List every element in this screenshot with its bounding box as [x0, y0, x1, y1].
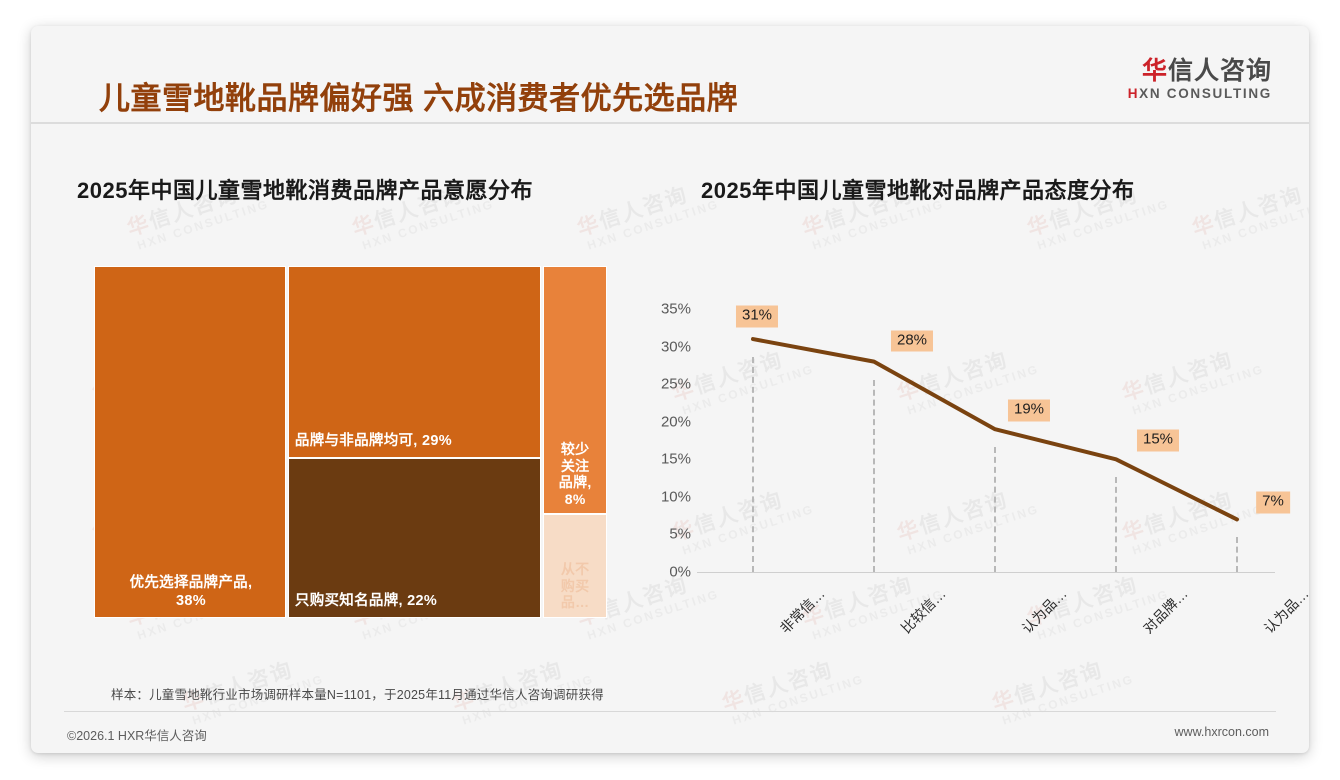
- logo-chinese-text: 华信人咨询: [1128, 58, 1272, 84]
- y-axis: 0%5%10%15%20%25%30%35%: [635, 266, 691, 636]
- watermark: 华信人咨询HXN CONSULTING: [1188, 170, 1309, 254]
- logo-cn-accent-char: 华: [1142, 57, 1168, 85]
- line-chart-plot-area: 31%28%19%15%7%非常信…比较信…认为品…对品牌…认为品…: [697, 266, 1275, 636]
- slide-header: 儿童雪地靴品牌偏好强 六成消费者优先选品牌 华信人咨询 HXN CONSULTI…: [31, 26, 1309, 122]
- treemap-cell[interactable]: 品牌与非品牌均可, 29%: [288, 266, 541, 458]
- treemap-cell[interactable]: 只购买知名品牌, 22%: [288, 458, 541, 618]
- treemap-cell[interactable]: 较少关注品牌,8%: [543, 266, 607, 514]
- brand-logo: 华信人咨询 HXN CONSULTING: [1128, 58, 1272, 101]
- treemap-chart: 优先选择品牌产品,38%品牌与非品牌均可, 29%只购买知名品牌, 22%较少关…: [94, 266, 607, 618]
- logo-english-text: HXN CONSULTING: [1128, 86, 1272, 101]
- logo-cn-rest: 信人咨询: [1168, 57, 1272, 85]
- data-point-label: 31%: [736, 306, 778, 328]
- treemap-cell-label: 只购买知名品牌, 22%: [295, 592, 536, 611]
- header-divider: [31, 122, 1309, 124]
- y-axis-tick-label: 15%: [645, 451, 691, 468]
- treemap-cell-label: 品牌与非品牌均可, 29%: [295, 432, 536, 451]
- treemap-cell-label: 较少关注品牌,8%: [544, 441, 606, 507]
- page-title: 儿童雪地靴品牌偏好强 六成消费者优先选品牌: [99, 73, 738, 118]
- y-axis-tick-label: 30%: [645, 338, 691, 355]
- logo-en-accent-char: H: [1128, 86, 1139, 101]
- watermark: 华信人咨询HXN CONSULTING: [573, 170, 721, 254]
- treemap-cell[interactable]: 从不购买品…: [543, 514, 607, 618]
- logo-en-rest: XN CONSULTING: [1139, 86, 1272, 101]
- line-chart: 0%5%10%15%20%25%30%35% 31%28%19%15%7%非常信…: [635, 266, 1275, 636]
- y-axis-tick-label: 20%: [645, 413, 691, 430]
- treemap-cell-label: 从不购买品…: [544, 561, 606, 611]
- slide-card: 华信人咨询HXN CONSULTING华信人咨询HXN CONSULTING华信…: [31, 26, 1309, 753]
- data-point-label: 15%: [1137, 430, 1179, 452]
- data-point-label: 19%: [1008, 400, 1050, 422]
- left-chart-title: 2025年中国儿童雪地靴消费品牌产品意愿分布: [77, 173, 533, 205]
- footer-divider: [64, 711, 1276, 712]
- line-series-path: [697, 266, 1275, 636]
- website-link[interactable]: www.hxrcon.com: [1175, 725, 1269, 739]
- data-point-label: 28%: [891, 330, 933, 352]
- slide-footer: ©2026.1 HXR华信人咨询 www.hxrcon.com: [31, 717, 1309, 753]
- data-point-label: 7%: [1256, 492, 1290, 514]
- source-footnote: 样本：儿童雪地靴行业市场调研样本量N=1101，于2025年11月通过华信人咨询…: [111, 684, 604, 703]
- copyright-text: ©2026.1 HXR华信人咨询: [67, 725, 207, 744]
- y-axis-tick-label: 0%: [645, 564, 691, 581]
- treemap-cell-label: 优先选择品牌产品,38%: [101, 574, 281, 611]
- y-axis-tick-label: 35%: [645, 301, 691, 318]
- treemap-cell[interactable]: 优先选择品牌产品,38%: [94, 266, 286, 618]
- right-chart-title: 2025年中国儿童雪地靴对品牌产品态度分布: [701, 173, 1134, 205]
- y-axis-tick-label: 25%: [645, 376, 691, 393]
- y-axis-tick-label: 5%: [645, 526, 691, 543]
- y-axis-tick-label: 10%: [645, 488, 691, 505]
